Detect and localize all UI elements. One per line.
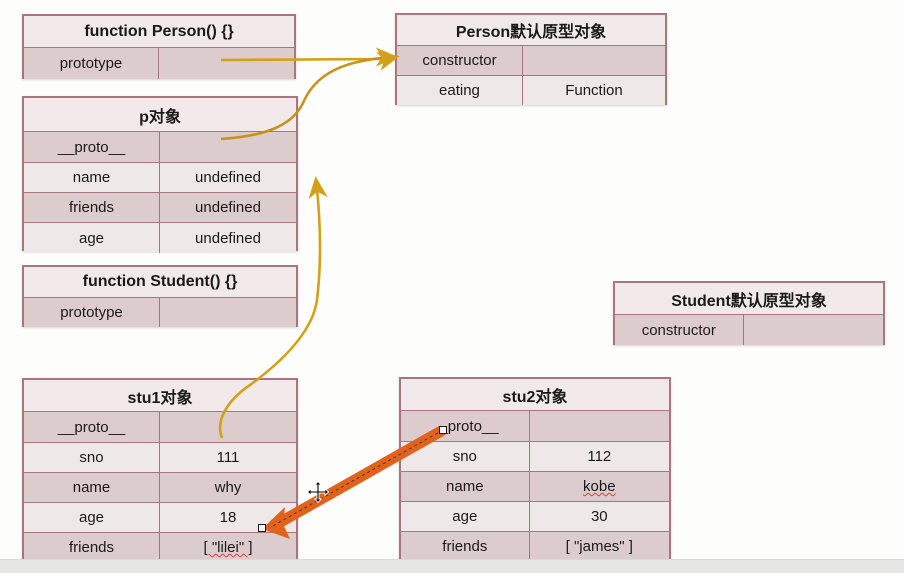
- row-key-sno: sno: [24, 443, 160, 472]
- row-value-prototype: [159, 48, 294, 79]
- row-key-proto: __proto__: [401, 411, 530, 441]
- table-title: stu2对象: [401, 383, 669, 407]
- table-title: function Student() {}: [24, 273, 296, 291]
- row-value-name: undefined: [160, 163, 296, 192]
- table-row[interactable]: name kobe: [401, 471, 669, 501]
- row-key-prototype: prototype: [24, 298, 160, 327]
- table-row[interactable]: friends [ "james" ]: [401, 531, 669, 560]
- table-title: Student默认原型对象: [615, 287, 883, 311]
- table-row[interactable]: age 30: [401, 501, 669, 531]
- row-key-friends: friends: [24, 193, 160, 222]
- table-title-row: Person默认原型对象: [397, 15, 665, 45]
- table-student-prototype-object[interactable]: Student默认原型对象 constructor: [613, 281, 885, 345]
- row-value-prototype: [160, 298, 296, 327]
- row-key-name: name: [401, 472, 530, 501]
- arrow-selection-handle-head[interactable]: [258, 524, 266, 532]
- table-title-row: p对象: [24, 98, 296, 131]
- row-key-age: age: [24, 503, 160, 532]
- row-value-proto: [160, 132, 296, 162]
- table-stu1-object[interactable]: stu1对象 __proto__ sno 111 name why age 18…: [22, 378, 298, 564]
- row-key-proto: __proto__: [24, 412, 160, 442]
- table-person-prototype-object[interactable]: Person默认原型对象 constructor eating Function: [395, 13, 667, 105]
- table-title-row: Student默认原型对象: [615, 283, 883, 314]
- table-row[interactable]: sno 112: [401, 441, 669, 471]
- table-row[interactable]: constructor: [397, 45, 665, 75]
- row-value-eating: Function: [523, 76, 665, 105]
- table-title: Person默认原型对象: [397, 18, 665, 42]
- table-row[interactable]: age undefined: [24, 222, 296, 253]
- row-value-sno: 111: [160, 443, 296, 472]
- table-row[interactable]: age 18: [24, 502, 296, 532]
- table-p-object[interactable]: p对象 __proto__ name undefined friends und…: [22, 96, 298, 251]
- table-title-row: stu2对象: [401, 379, 669, 410]
- table-stu2-object[interactable]: stu2对象 __proto__ sno 112 name kobe age 3…: [399, 377, 671, 560]
- row-key-age: age: [24, 223, 160, 253]
- table-title: function Person() {}: [24, 23, 294, 41]
- table-row[interactable]: sno 111: [24, 442, 296, 472]
- row-value-friends: [ "james" ]: [530, 532, 669, 560]
- row-key-prototype: prototype: [24, 48, 159, 79]
- table-title-row: function Person() {}: [24, 16, 294, 47]
- row-value-constructor: [744, 315, 883, 345]
- bottom-edge-strip: [0, 559, 904, 573]
- table-row[interactable]: friends [ "lilei" ]: [24, 532, 296, 562]
- table-row[interactable]: prototype: [24, 47, 294, 79]
- row-value-proto: [160, 412, 296, 442]
- row-key-friends: friends: [401, 532, 530, 560]
- row-key-friends: friends: [24, 533, 160, 562]
- table-row[interactable]: eating Function: [397, 75, 665, 105]
- table-row[interactable]: __proto__: [24, 131, 296, 162]
- row-value-age: 30: [530, 502, 669, 531]
- table-function-person[interactable]: function Person() {} prototype: [22, 14, 296, 79]
- table-title-row: stu1对象: [24, 380, 296, 411]
- table-row[interactable]: prototype: [24, 297, 296, 327]
- row-key-sno: sno: [401, 442, 530, 471]
- row-key-constructor: constructor: [397, 46, 523, 75]
- row-value-proto: [530, 411, 669, 441]
- table-function-student[interactable]: function Student() {} prototype: [22, 265, 298, 327]
- diagram-canvas: function Person() {} prototype Person默认原…: [0, 0, 904, 572]
- row-key-age: age: [401, 502, 530, 531]
- row-value-age: 18: [160, 503, 296, 532]
- arrow-selection-handle-tail[interactable]: [439, 426, 447, 434]
- table-row[interactable]: constructor: [615, 314, 883, 345]
- table-row[interactable]: __proto__: [24, 411, 296, 442]
- row-value-friends: undefined: [160, 193, 296, 222]
- row-value-constructor: [523, 46, 665, 75]
- table-title: stu1对象: [24, 384, 296, 408]
- row-key-name: name: [24, 163, 160, 192]
- row-value-name: why: [160, 473, 296, 502]
- row-key-proto: __proto__: [24, 132, 160, 162]
- table-title: p对象: [24, 103, 296, 127]
- table-title-row: function Student() {}: [24, 267, 296, 297]
- table-row[interactable]: name undefined: [24, 162, 296, 192]
- row-key-name: name: [24, 473, 160, 502]
- row-key-eating: eating: [397, 76, 523, 105]
- row-value-name: kobe: [530, 472, 669, 501]
- move-cursor: [307, 481, 329, 503]
- table-row[interactable]: friends undefined: [24, 192, 296, 222]
- row-value-friends: [ "lilei" ]: [160, 533, 296, 562]
- row-value-age: undefined: [160, 223, 296, 253]
- row-key-constructor: constructor: [615, 315, 744, 345]
- table-row[interactable]: name why: [24, 472, 296, 502]
- row-value-sno: 112: [530, 442, 669, 471]
